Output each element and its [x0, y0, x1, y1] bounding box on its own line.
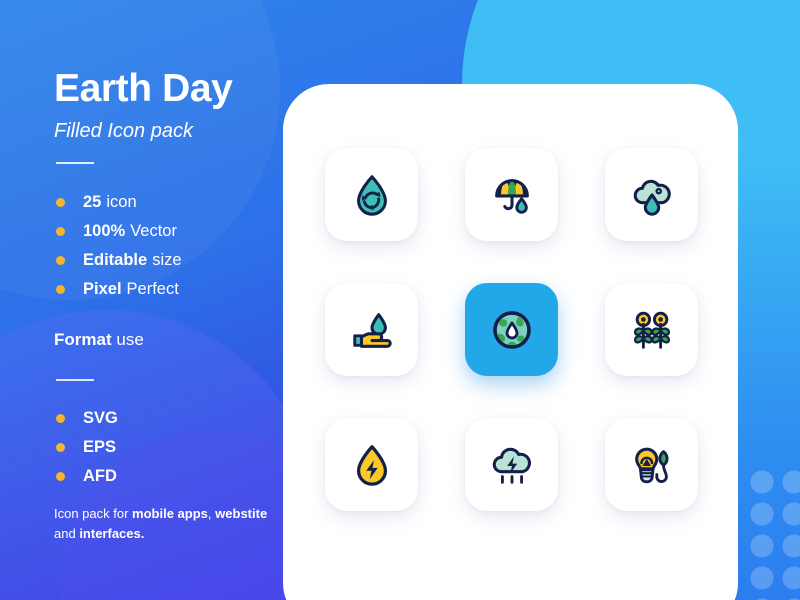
feature-strong: Editable — [83, 251, 147, 270]
sunflowers-icon — [629, 307, 675, 353]
icon-tile-water-recycle-drop[interactable] — [325, 148, 418, 241]
info-panel: Earth Day Filled Icon pack 25 icon 100% … — [0, 0, 283, 600]
poster-screen: Earth Day Filled Icon pack 25 icon 100% … — [0, 0, 800, 600]
format-list: SVG EPS AFD — [56, 404, 118, 491]
icon-tile-hand-waterdrop[interactable] — [325, 283, 418, 376]
feature-rest: icon — [106, 193, 136, 212]
list-item: AFD — [56, 462, 118, 491]
format-heading-rest: use — [116, 330, 143, 349]
format-heading: Format use — [54, 330, 144, 350]
feature-strong: 25 — [83, 193, 101, 212]
feature-rest: size — [152, 251, 181, 270]
bullet-dot-icon — [56, 472, 65, 481]
icon-tile-umbrella-rain[interactable] — [465, 148, 558, 241]
feature-rest: Vector — [130, 222, 177, 241]
format-heading-strong: Format — [54, 330, 112, 349]
bullet-dot-icon — [56, 227, 65, 236]
footer-plain-2: and — [54, 526, 79, 541]
icon-tile-hydro-energy-drop[interactable] — [325, 418, 418, 511]
hydro-energy-drop-icon — [349, 442, 395, 488]
icon-tile-sunflowers[interactable] — [605, 283, 698, 376]
eco-lightbulb-leaf-icon — [629, 442, 675, 488]
background-dot-pattern — [742, 462, 800, 600]
bullet-dot-icon — [56, 414, 65, 423]
feature-strong: Pixel — [83, 280, 122, 299]
icon-tile-earth-globe-water[interactable] — [465, 283, 558, 376]
bullet-dot-icon — [56, 285, 65, 294]
bullet-dot-icon — [56, 443, 65, 452]
feature-rest: Perfect — [127, 280, 179, 299]
icon-tile-cloud-raindrop[interactable] — [605, 148, 698, 241]
footer-bold-3: interfaces. — [79, 526, 144, 541]
list-item: 100% Vector — [56, 217, 182, 246]
bullet-dot-icon — [56, 198, 65, 207]
hand-waterdrop-icon — [349, 307, 395, 353]
list-item: EPS — [56, 433, 118, 462]
list-item: 25 icon — [56, 188, 182, 217]
divider-bottom — [56, 379, 94, 381]
footer-tail-1: , — [208, 506, 212, 521]
feature-strong: 100% — [83, 222, 125, 241]
icon-grid — [325, 148, 705, 511]
bullet-dot-icon — [56, 256, 65, 265]
earth-globe-water-icon — [488, 306, 536, 354]
thunderstorm-cloud-icon — [489, 442, 535, 488]
icon-tile-eco-lightbulb-leaf[interactable] — [605, 418, 698, 511]
footer-note: Icon pack for mobile apps, webstite and … — [54, 504, 269, 544]
format-label: AFD — [83, 467, 117, 486]
umbrella-rain-icon — [489, 172, 535, 218]
list-item: Pixel Perfect — [56, 275, 182, 304]
list-item: SVG — [56, 404, 118, 433]
footer-bold-1: mobile apps — [132, 506, 208, 521]
footer-plain-1: Icon pack for — [54, 506, 132, 521]
format-label: SVG — [83, 409, 118, 428]
cloud-raindrop-icon — [629, 172, 675, 218]
format-label: EPS — [83, 438, 116, 457]
list-item: Editable size — [56, 246, 182, 275]
feature-list: 25 icon 100% Vector Editable size Pixel … — [56, 188, 182, 304]
page-subtitle: Filled Icon pack — [54, 120, 193, 143]
page-title: Earth Day — [54, 69, 232, 108]
footer-bold-2: webstite — [215, 506, 267, 521]
icon-tile-thunderstorm-cloud[interactable] — [465, 418, 558, 511]
divider-top — [56, 162, 94, 164]
water-recycle-drop-icon — [349, 172, 395, 218]
